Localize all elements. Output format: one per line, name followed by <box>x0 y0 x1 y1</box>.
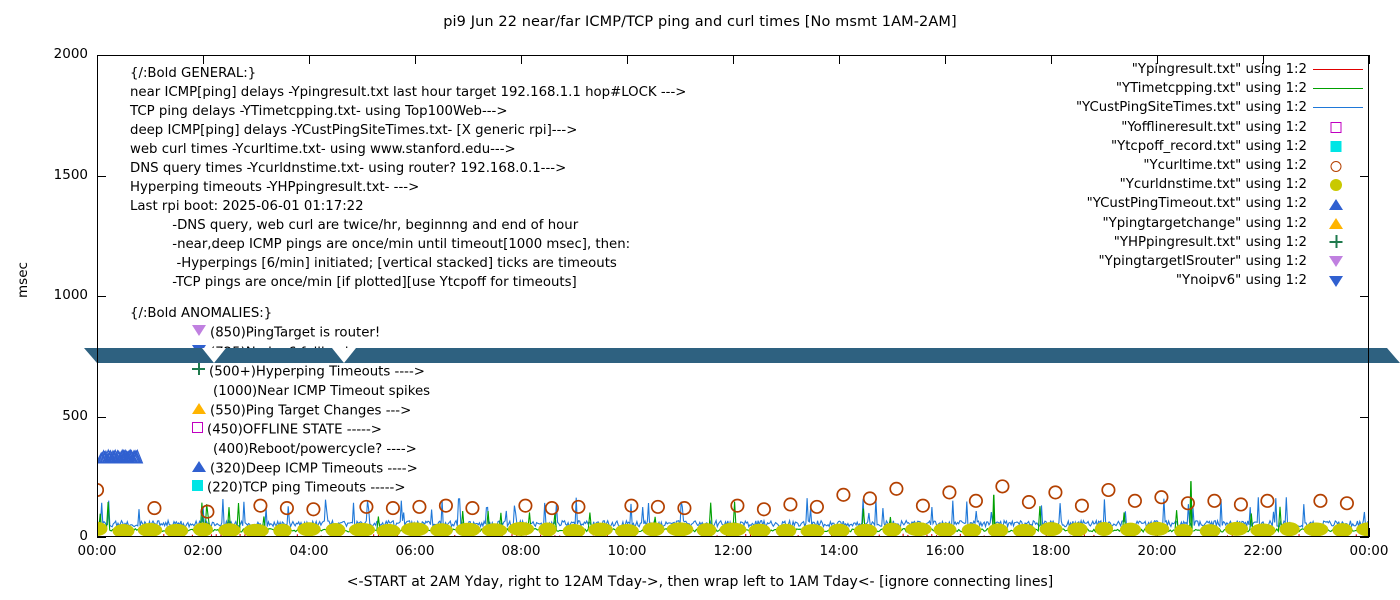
anomaly-row: (500+)Hyperping Timeouts ----> <box>130 362 430 382</box>
band-left-end <box>84 348 97 363</box>
anomaly-row: (320)Deep ICMP Timeouts ----> <box>130 459 430 479</box>
x-tick-label: 10:00 <box>587 543 667 559</box>
curl-time-marker <box>784 498 796 510</box>
legend-label: "YCustPingTimeout.txt" using 1:2 <box>1087 196 1307 211</box>
x-tick-label: 08:00 <box>481 543 561 559</box>
anomaly-marker <box>1329 214 1343 233</box>
legend-symbol <box>1307 79 1369 98</box>
curl-time-marker <box>413 501 425 513</box>
legend-line-icon <box>1313 69 1363 70</box>
curl-time-marker <box>1076 499 1088 511</box>
legend-symbol <box>1307 194 1369 213</box>
curl-time-marker <box>572 501 584 513</box>
dns-time-marker <box>538 523 556 536</box>
dns-time-marker <box>1225 522 1248 536</box>
anomaly-row: (1000)Near ICMP Timeout spikes <box>130 382 430 401</box>
curl-time-marker <box>307 503 319 515</box>
plus-icon <box>192 362 205 375</box>
x-tick-label: 16:00 <box>905 543 985 559</box>
dns-time-marker <box>297 522 321 536</box>
legend-marker-icon <box>1330 232 1347 252</box>
plus-icon <box>1330 235 1343 248</box>
curl-time-marker <box>1261 495 1273 507</box>
x-tick-label: 04:00 <box>269 543 349 559</box>
curl-time-marker <box>1129 495 1141 507</box>
square-open-icon <box>1331 122 1342 133</box>
anomaly-label: (550)Ping Target Changes ---> <box>210 403 411 418</box>
curl-time-marker <box>996 480 1008 492</box>
dns-time-marker <box>1067 522 1087 536</box>
x-axis-label: <-START at 2AM Yday, right to 12AM Tday-… <box>0 574 1400 590</box>
anomaly-label: (450)OFFLINE STATE -----> <box>207 423 382 438</box>
dns-time-marker <box>667 522 694 536</box>
dns-time-marker <box>642 522 664 536</box>
triangle-up-icon <box>192 461 206 472</box>
legend-symbol <box>1307 156 1369 175</box>
legend-item: "Yofflineresult.txt" using 1:2 <box>949 118 1369 137</box>
curl-time-marker <box>254 499 266 511</box>
curl-time-marker <box>1049 486 1061 498</box>
anomaly-marker <box>1331 137 1342 156</box>
triangle-up-filled-icon <box>192 403 206 414</box>
anomaly-row: (220)TCP ping Timeouts -----> <box>130 478 430 498</box>
general-line: -Hyperpings [6/min] initiated; [vertical… <box>130 254 686 273</box>
y-tick-label: 0 <box>28 528 88 544</box>
anomaly-marker <box>1329 252 1343 271</box>
legend-label: "YTimetcpping.txt" using 1:2 <box>1116 81 1307 96</box>
general-annotation: {/:Bold GENERAL:}near ICMP[ping] delays … <box>130 64 686 292</box>
legend-symbol <box>1307 175 1369 194</box>
curl-time-marker <box>1314 495 1326 507</box>
dns-time-marker <box>193 523 213 536</box>
anomaly-marker <box>1329 195 1343 214</box>
dns-time-marker <box>748 524 770 536</box>
curl-time-marker <box>281 502 293 514</box>
curl-time-marker <box>1208 495 1220 507</box>
legend-marker-icon <box>1329 271 1347 291</box>
curl-time-marker <box>970 495 982 507</box>
dns-time-marker <box>455 523 480 536</box>
legend-item: "Ytcpoff_record.txt" using 1:2 <box>949 137 1369 156</box>
anomalies-heading: {/:Bold ANOMALIES:} <box>130 304 430 323</box>
legend-item: "Ycurldnstime.txt" using 1:2 <box>949 175 1369 194</box>
legend-item: "Ypingtargetchange" using 1:2 <box>949 214 1369 233</box>
curl-time-marker <box>1155 491 1167 503</box>
curl-time-marker <box>1023 496 1035 508</box>
curl-time-marker <box>466 502 478 514</box>
legend-item: "Ynoipv6" using 1:2 <box>949 271 1369 290</box>
anomaly-label: (400)Reboot/powercycle? ----> <box>213 442 417 457</box>
general-line: DNS query times -Ycurldnstime.txt- using… <box>130 159 686 178</box>
legend-symbol <box>1307 271 1369 290</box>
anomaly-label: (1000)Near ICMP Timeout spikes <box>213 384 430 399</box>
legend-marker-icon <box>1331 156 1346 176</box>
y-tick-label: 1500 <box>28 167 88 183</box>
dns-time-marker <box>588 523 613 536</box>
axis-line-over-band-left <box>97 348 98 363</box>
general-line: TCP ping delays -YTimetcpping.txt- using… <box>130 102 686 121</box>
general-line: web curl times -Ycurltime.txt- using www… <box>130 140 686 159</box>
curl-time-marker <box>811 501 823 513</box>
x-tick-label: 12:00 <box>693 543 773 559</box>
legend-label: "Ypingresult.txt" using 1:2 <box>1132 62 1307 77</box>
legend-label: "Yofflineresult.txt" using 1:2 <box>1121 120 1307 135</box>
y-tick-label: 500 <box>28 408 88 424</box>
square-filled-icon <box>192 480 203 491</box>
legend-item: "YCustPingTimeout.txt" using 1:2 <box>949 194 1369 213</box>
general-line: Last rpi boot: 2025-06-01 01:17:22 <box>130 197 686 216</box>
legend-label: "Ynoipv6" using 1:2 <box>1176 273 1307 288</box>
anomaly-marker <box>192 362 205 381</box>
legend-item: "YCustPingSiteTimes.txt" using 1:2 <box>949 98 1369 117</box>
y-tick-mark <box>97 537 106 538</box>
legend-item: "Ycurltime.txt" using 1:2 <box>949 156 1369 175</box>
anomaly-label: (500+)Hyperping Timeouts ----> <box>209 365 425 380</box>
anomaly-row: (550)Ping Target Changes ---> <box>130 401 430 421</box>
data-trace <box>1190 481 1192 530</box>
general-line: near ICMP[ping] delays -Ypingresult.txt … <box>130 83 686 102</box>
legend-label: "Ycurldnstime.txt" using 1:2 <box>1120 177 1307 192</box>
legend-line-icon <box>1313 107 1363 108</box>
x-tick-label: 06:00 <box>375 543 455 559</box>
general-heading: {/:Bold GENERAL:} <box>130 64 686 83</box>
curl-time-marker <box>917 499 929 511</box>
curl-time-marker <box>1102 484 1114 496</box>
dns-time-marker <box>482 523 507 536</box>
curl-time-marker <box>731 499 743 511</box>
x-tick-label: 02:00 <box>163 543 243 559</box>
dns-time-marker <box>138 523 163 536</box>
band-notch-left <box>202 348 226 363</box>
triangle-up-filled-icon <box>1329 218 1343 229</box>
legend-label: "YHPpingresult.txt" using 1:2 <box>1114 235 1307 250</box>
triangle-down-icon <box>1329 276 1343 287</box>
curl-time-marker <box>943 486 955 498</box>
anomaly-marker <box>1331 157 1342 176</box>
curl-time-marker <box>678 502 690 514</box>
curl-time-marker <box>758 503 770 515</box>
legend: "Ypingresult.txt" using 1:2"YTimetcpping… <box>949 60 1369 290</box>
legend-symbol <box>1307 137 1369 156</box>
circle-open-icon <box>1331 161 1342 172</box>
curl-time-marker <box>890 483 902 495</box>
dns-time-marker <box>988 523 1009 536</box>
legend-marker-icon <box>1329 194 1347 214</box>
legend-symbol <box>1307 233 1369 252</box>
curl-time-marker <box>148 502 160 514</box>
legend-marker-icon <box>1329 251 1347 271</box>
chart-title: pi9 Jun 22 near/far ICMP/TCP ping and cu… <box>0 14 1400 30</box>
curl-time-marker <box>652 501 664 513</box>
legend-label: "Ytcpoff_record.txt" using 1:2 <box>1111 139 1307 154</box>
curl-time-marker <box>864 492 876 504</box>
legend-symbol <box>1307 60 1369 79</box>
triangle-down-icon <box>192 325 206 336</box>
dns-time-marker <box>1304 522 1329 536</box>
dns-time-marker <box>1095 522 1113 536</box>
square-open-icon <box>192 422 203 433</box>
anomaly-marker <box>192 401 206 420</box>
circle-filled-icon <box>1330 179 1342 191</box>
dns-time-marker <box>962 523 982 536</box>
dns-time-marker <box>508 522 534 536</box>
anomaly-marker <box>192 478 203 497</box>
dns-time-marker <box>1145 522 1170 536</box>
general-line: -near,deep ICMP pings are once/min until… <box>130 235 686 254</box>
x-tick-label: 20:00 <box>1117 543 1197 559</box>
legend-item: "YHPpingresult.txt" using 1:2 <box>949 233 1369 252</box>
dns-time-marker <box>905 522 931 536</box>
x-tick-label: 00:00 <box>57 543 137 559</box>
curl-time-marker <box>1341 497 1353 509</box>
anomaly-marker <box>1330 233 1343 252</box>
curl-time-marker <box>98 484 103 496</box>
legend-marker-icon <box>1331 136 1346 156</box>
curl-time-marker <box>519 499 531 511</box>
x-tick-label: 18:00 <box>1011 543 1091 559</box>
anomaly-marker <box>192 459 206 478</box>
dns-time-marker <box>563 524 586 536</box>
anomaly-label: (320)Deep ICMP Timeouts ----> <box>210 461 418 476</box>
anomaly-marker <box>192 323 206 342</box>
anomaly-label: (850)PingTarget is router! <box>210 326 380 341</box>
legend-marker-icon <box>1330 175 1346 195</box>
dns-time-marker <box>1279 522 1299 536</box>
dns-time-marker <box>401 522 429 536</box>
dns-time-marker <box>854 524 877 536</box>
dns-time-marker <box>1039 522 1062 536</box>
triangle-down-icon <box>1329 256 1343 267</box>
anomaly-row: (400)Reboot/powercycle? ----> <box>130 440 430 459</box>
axis-line-over-band-right <box>1368 348 1369 363</box>
legend-item: "YpingtargetISrouter" using 1:2 <box>949 252 1369 271</box>
legend-marker-icon <box>1331 117 1346 137</box>
legend-marker-icon <box>1329 213 1347 233</box>
y-tick-label: 2000 <box>28 46 88 62</box>
curl-time-marker <box>387 502 399 514</box>
legend-symbol <box>1307 118 1369 137</box>
anomaly-label: (220)TCP ping Timeouts -----> <box>207 481 405 496</box>
general-line: Hyperping timeouts -YHPpingresult.txt- -… <box>130 178 686 197</box>
square-filled-icon <box>1331 141 1342 152</box>
band-notch-right <box>332 348 356 363</box>
anomaly-row: (850)PingTarget is router! <box>130 323 430 343</box>
legend-label: "YpingtargetISrouter" using 1:2 <box>1098 254 1307 269</box>
y-tick-mark <box>1360 537 1369 538</box>
general-line: -TCP pings are once/min [if plotted][use… <box>130 273 686 292</box>
legend-label: "Ycurltime.txt" using 1:2 <box>1143 158 1307 173</box>
band-right-end <box>1387 348 1400 363</box>
curl-time-marker <box>837 489 849 501</box>
dns-time-marker <box>326 523 346 536</box>
dns-time-marker <box>376 524 400 536</box>
legend-symbol <box>1307 214 1369 233</box>
legend-label: "Ypingtargetchange" using 1:2 <box>1103 216 1308 231</box>
anomaly-marker <box>1331 118 1342 137</box>
general-line: -DNS query, web curl are twice/hr, begin… <box>130 216 686 235</box>
general-line: deep ICMP[ping] delays -YCustPingSiteTim… <box>130 121 686 140</box>
legend-line-icon <box>1313 88 1363 89</box>
x-tick-mark <box>1369 528 1370 537</box>
x-tick-label: 22:00 <box>1223 543 1303 559</box>
dns-time-marker <box>720 523 747 536</box>
legend-symbol <box>1307 98 1369 117</box>
overlay-band <box>84 348 1400 363</box>
legend-symbol <box>1307 252 1369 271</box>
triangle-up-icon <box>1329 199 1343 210</box>
legend-label: "YCustPingSiteTimes.txt" using 1:2 <box>1076 100 1307 115</box>
anomalies-annotation: {/:Bold ANOMALIES:}(850)PingTarget is ro… <box>130 304 430 498</box>
anomaly-marker <box>1330 176 1342 195</box>
x-tick-mark <box>1369 55 1370 64</box>
curl-time-marker <box>1235 498 1247 510</box>
anomaly-row: (450)OFFLINE STATE -----> <box>130 420 430 440</box>
x-tick-label: 14:00 <box>799 543 879 559</box>
dns-time-marker <box>113 524 135 536</box>
legend-item: "Ypingresult.txt" using 1:2 <box>949 60 1369 79</box>
x-tick-label: 00:00 <box>1329 543 1400 559</box>
anomaly-marker <box>192 420 203 439</box>
legend-item: "YTimetcpping.txt" using 1:2 <box>949 79 1369 98</box>
y-tick-label: 1000 <box>28 287 88 303</box>
anomaly-marker <box>1329 272 1343 291</box>
